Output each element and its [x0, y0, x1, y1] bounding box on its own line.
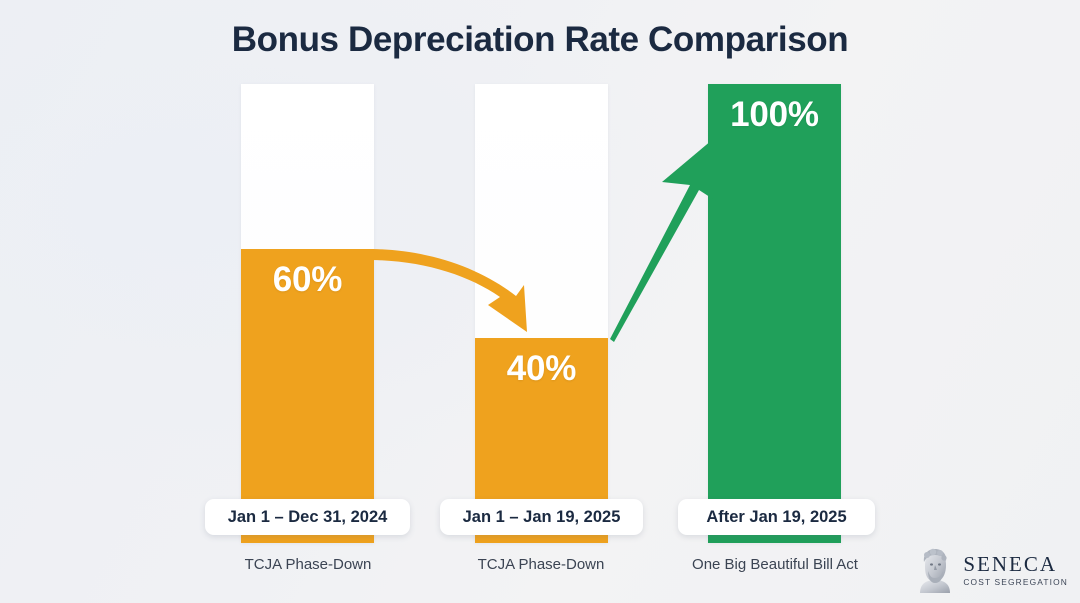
chart-plot-area: 60% 40% 100% Jan 1 – Dec 31, 2024 Jan 1 …	[0, 0, 1080, 603]
bar-sublabel-2: TCJA Phase-Down	[441, 556, 641, 573]
bar-sublabel-1: TCJA Phase-Down	[208, 556, 408, 573]
bar-pill-label-1[interactable]: Jan 1 – Dec 31, 2024	[205, 499, 410, 535]
growth-arrow-icon	[610, 140, 716, 342]
logo-text-block: SENECA COST SEGREGATION	[963, 554, 1068, 586]
bar-pill-label-3[interactable]: After Jan 19, 2025	[678, 499, 875, 535]
bar-group-1: 60%	[241, 84, 374, 543]
bar-fill-3[interactable]	[708, 84, 841, 543]
bar-sublabel-3: One Big Beautiful Bill Act	[660, 556, 890, 573]
bar-group-3: 100%	[708, 84, 841, 543]
logo-brand-name: SENECA	[963, 554, 1068, 575]
philosopher-bust-icon	[914, 547, 956, 593]
bar-value-label-3: 100%	[708, 95, 841, 135]
infographic-canvas: Bonus Depreciation Rate Comparison 60% 4…	[0, 0, 1080, 603]
bar-group-2: 40%	[475, 84, 608, 543]
logo-tagline: COST SEGREGATION	[963, 578, 1068, 586]
brand-logo[interactable]: SENECA COST SEGREGATION	[914, 547, 1068, 593]
bar-pill-label-2[interactable]: Jan 1 – Jan 19, 2025	[440, 499, 643, 535]
bar-value-label-2: 40%	[475, 349, 608, 389]
bar-value-label-1: 60%	[241, 260, 374, 300]
